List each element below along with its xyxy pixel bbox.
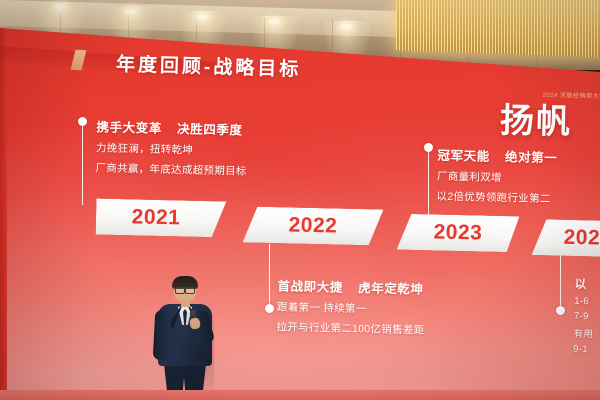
ceiling-downlight — [196, 14, 208, 19]
callout-line: 9-1 — [573, 344, 593, 355]
crystal-chandelier — [396, 0, 600, 58]
glasses-icon — [175, 287, 195, 292]
timeline-callout-2022: 首战即大捷 虎年定乾坤 跟着第一 持续第一 拉开与行业第二100亿销售差距 — [276, 275, 425, 337]
callout-headline-part-a: 携手大变革 — [96, 120, 162, 135]
year-label: 2024 — [563, 226, 600, 251]
callout-headline-part-b: 决胜四季度 — [177, 122, 243, 137]
connector-dot — [265, 304, 274, 313]
callout-headline: 冠军天能 绝对第一 — [437, 145, 557, 167]
connector-dot — [78, 117, 87, 126]
year-label: 2021 — [131, 205, 180, 230]
callout-headline-part-b: 虎年定乾坤 — [358, 281, 424, 296]
event-brand-logo: 2024 天能经销商大会 扬帆 — [495, 87, 600, 149]
callout-line: 厂商量利双增 — [437, 169, 557, 187]
connector-stem — [82, 117, 83, 205]
timeline-callout-2021: 携手大变革 决胜四季度 力挽狂澜，扭转乾坤 厂商共赢，年底达成超预期目标 — [95, 116, 248, 178]
callout-headline: 携手大变革 决胜四季度 — [96, 116, 248, 138]
connector-stem — [560, 252, 561, 310]
callout-line: 力挽狂澜，扭转乾坤 — [96, 140, 248, 158]
speaker-presenter — [150, 278, 220, 400]
timeline-year-bar-2022: 2022 — [243, 206, 384, 245]
timeline-year-bar-2023: 2023 — [397, 214, 520, 253]
speaker-arm-left — [153, 310, 170, 361]
connector-stem — [428, 143, 429, 221]
callout-line: 有用 — [573, 326, 593, 340]
callout-line: 以2倍优势领跑行业第二 — [436, 189, 556, 207]
ceiling-downlight — [125, 9, 137, 14]
callout-headline: 以 — [575, 276, 595, 292]
connector-dot — [424, 143, 433, 152]
slide-title: 年度回顾-战略目标 — [116, 49, 302, 81]
connector-stem — [269, 244, 270, 308]
backdrop-left-edge — [0, 28, 7, 400]
stage-floor — [0, 390, 600, 400]
brand-wordmark: 扬帆 — [499, 93, 572, 143]
connector-dot — [556, 306, 565, 315]
callout-headline-part-a: 冠军天能 — [437, 149, 490, 164]
callout-headline-part-b: 绝对第一 — [505, 150, 558, 165]
callout-line: 跟着第一 持续第一 — [277, 299, 425, 317]
timeline-year-bar-2021: 2021 — [96, 199, 227, 238]
ceiling-downlight — [340, 24, 352, 29]
callout-line: 7-9 — [574, 311, 594, 322]
callout-headline-part-a: 首战即大捷 — [277, 279, 343, 294]
callout-headline: 首战即大捷 虎年定乾坤 — [277, 275, 425, 297]
callout-line: 1-6 — [574, 296, 594, 307]
timeline-callout-2023: 冠军天能 绝对第一 厂商量利双增 以2倍优势领跑行业第二 — [436, 145, 557, 207]
conference-stage-photo: 年度回顾-战略目标 2024 天能经销商大会 扬帆 2021 2022 2023… — [0, 0, 600, 400]
ceiling-downlight — [55, 4, 67, 9]
timeline-callout-2024-clipped: 以 1-6 7-9 有用 9-1 — [573, 276, 594, 355]
year-label: 2023 — [433, 220, 482, 245]
ceiling-downlight — [268, 19, 280, 24]
year-label: 2022 — [288, 213, 337, 238]
